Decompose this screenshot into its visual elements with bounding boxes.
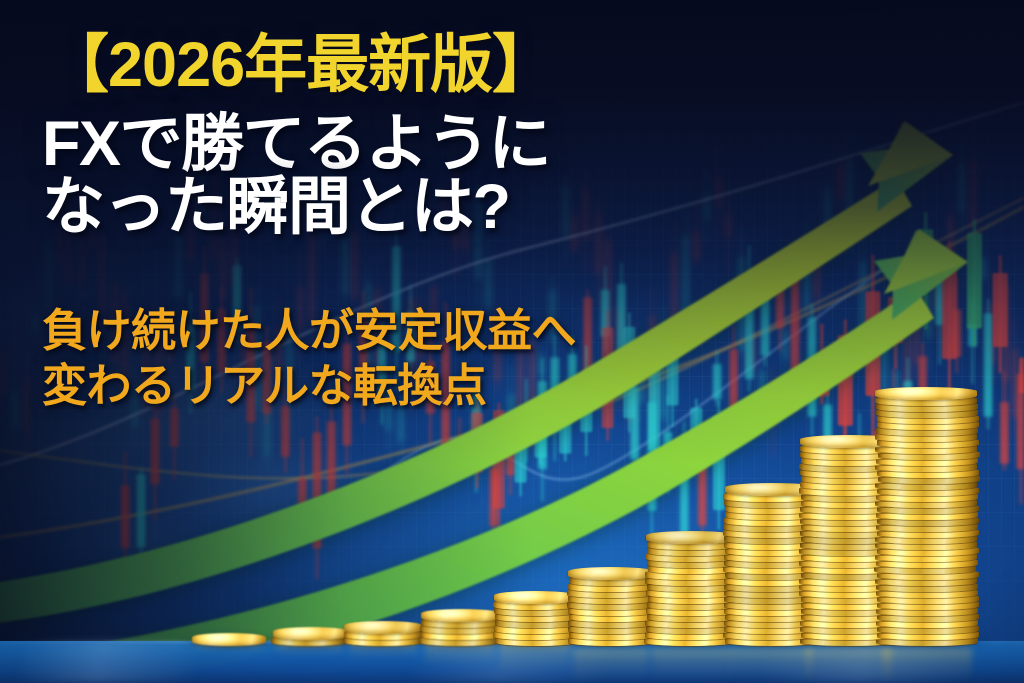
coin-stack <box>876 363 978 646</box>
banner-canvas: 【2026年最新版】 FXで勝てるように なった瞬間とは? 負け続けた人が安定収… <box>0 0 1024 683</box>
coin-top <box>494 591 576 604</box>
coin-top <box>568 567 654 580</box>
coin-top <box>875 387 977 400</box>
